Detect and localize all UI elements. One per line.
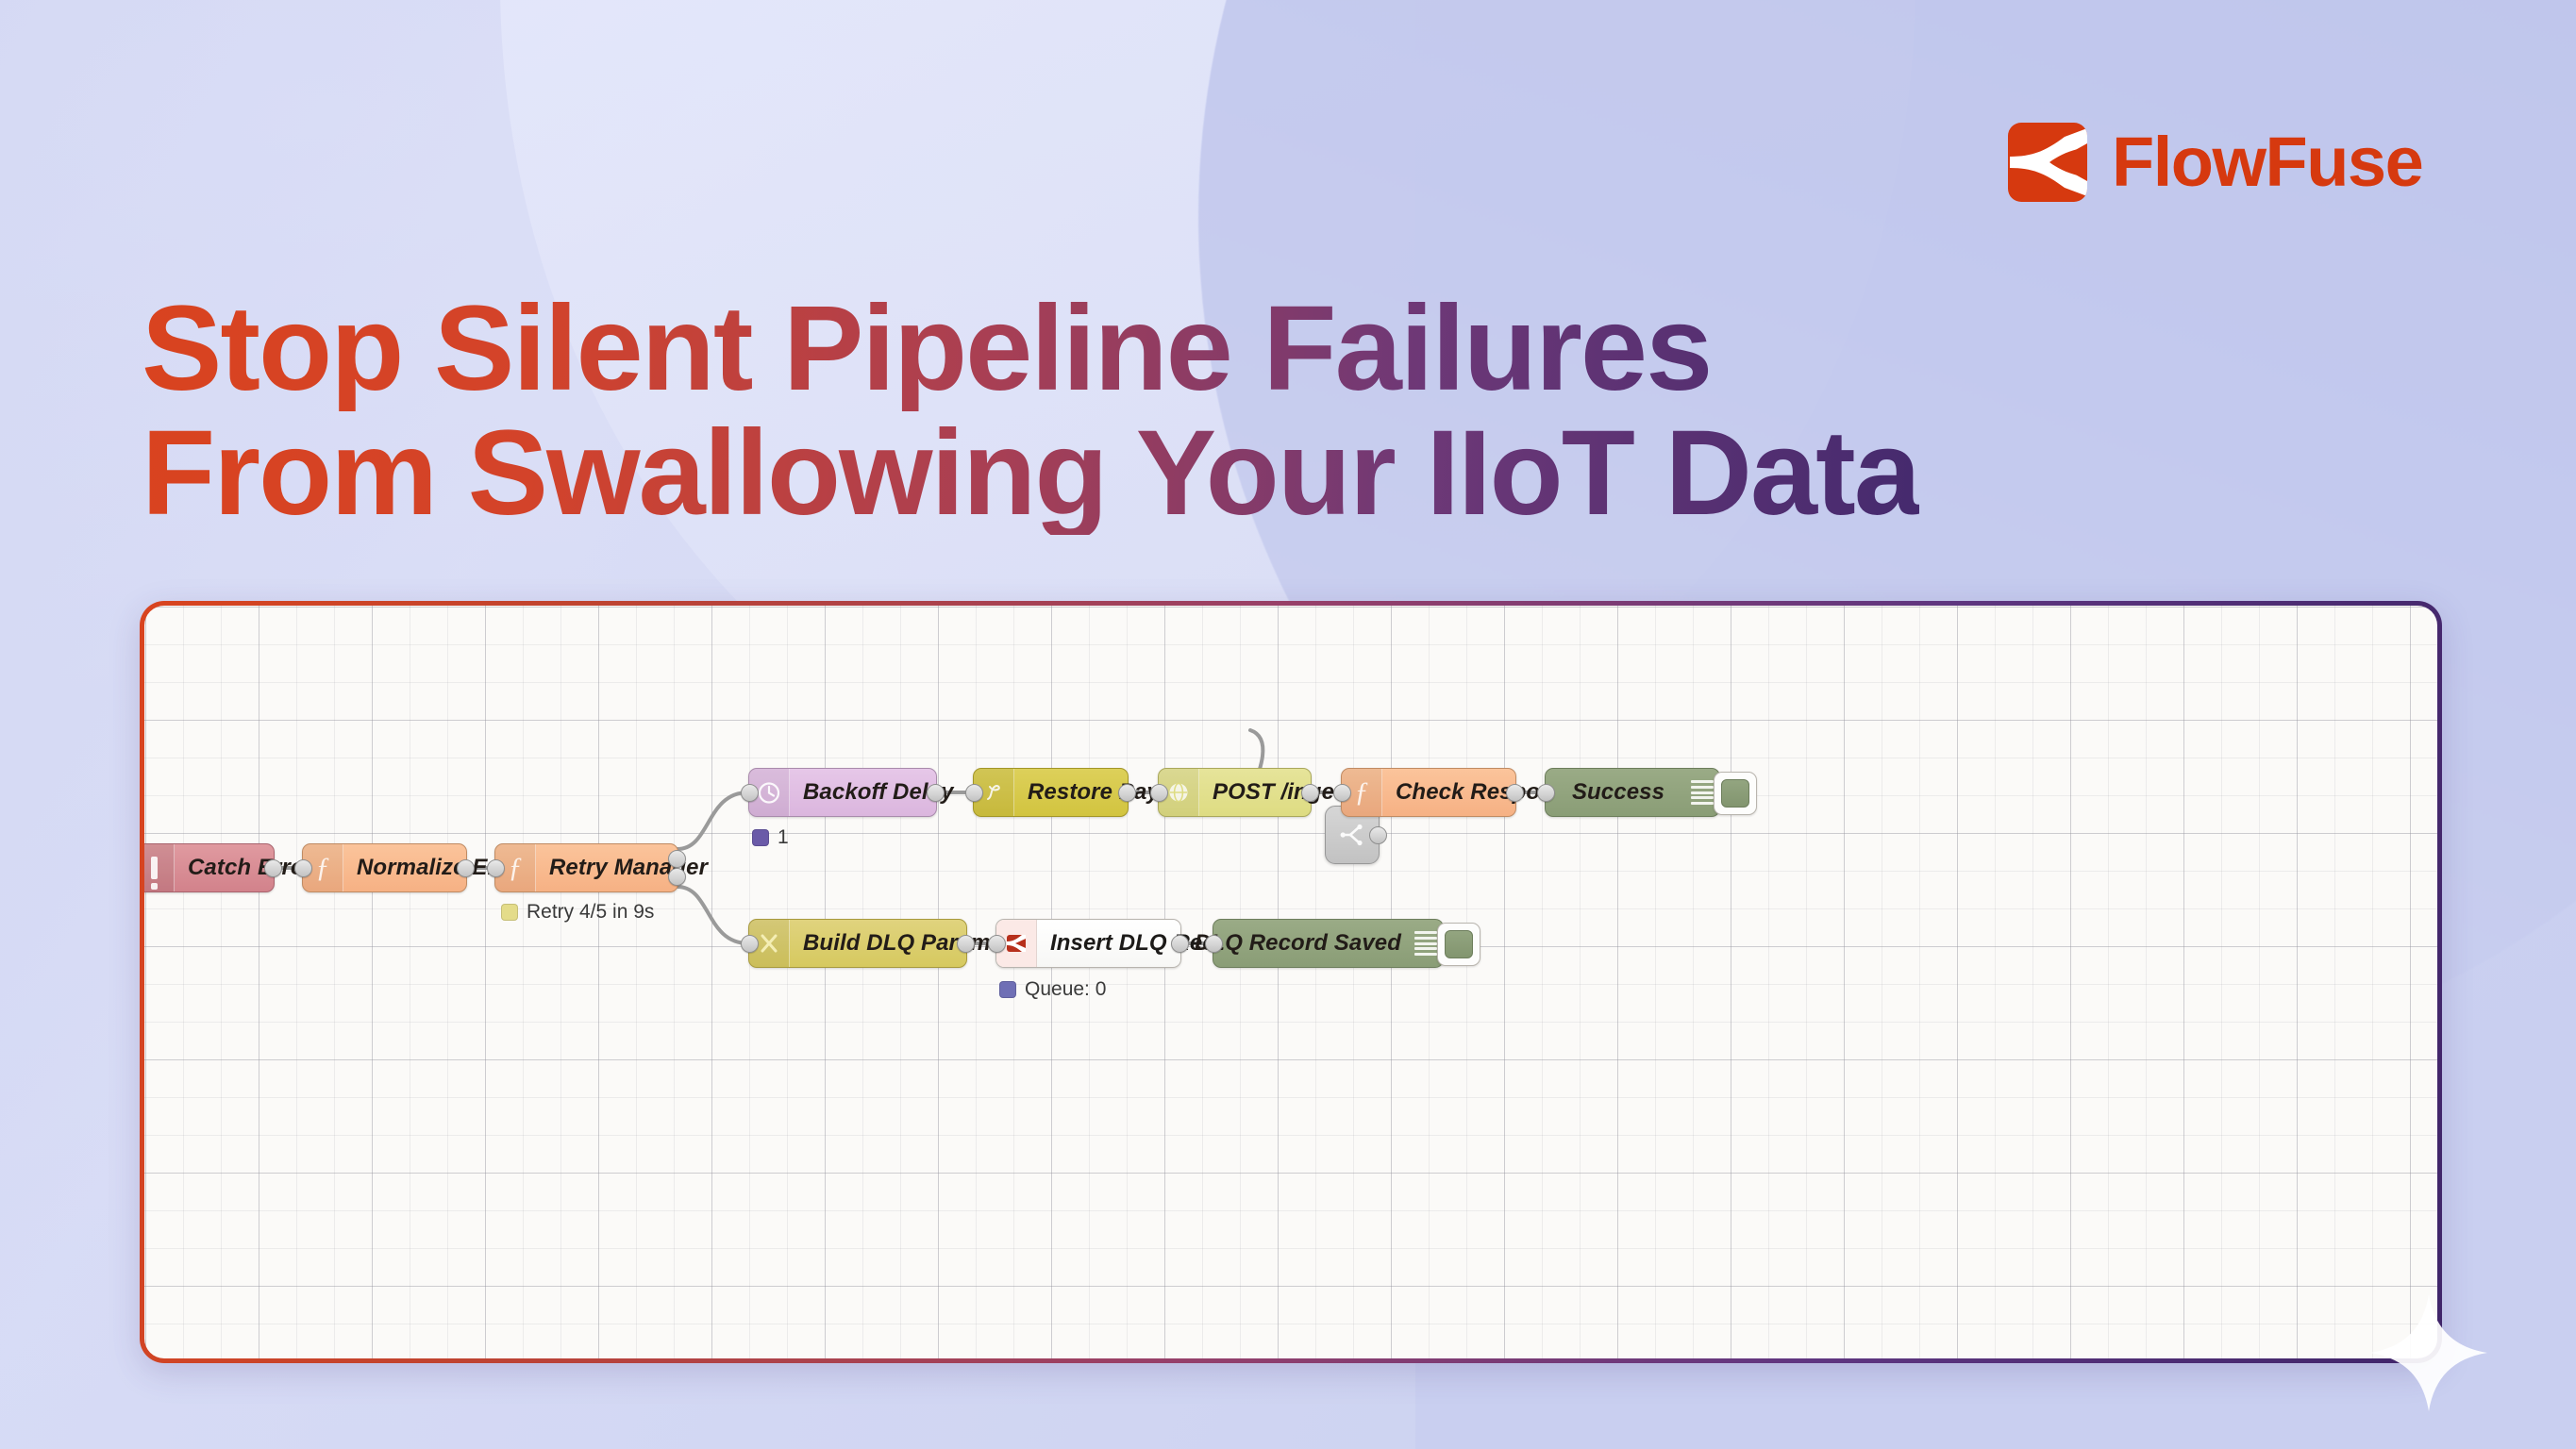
sparkle-icon — [2367, 1291, 2491, 1415]
node-input-port[interactable] — [1537, 784, 1555, 802]
node-input-port[interactable] — [741, 784, 759, 802]
debug-icon — [1414, 931, 1437, 956]
node-label: Build DLQ Params — [790, 930, 1016, 957]
debug-icon — [1691, 780, 1714, 805]
debug-toggle-button[interactable] — [1437, 923, 1480, 966]
node-normalize-error[interactable]: ƒ Normalize Error — [302, 843, 467, 892]
node-input-port[interactable] — [1150, 784, 1168, 802]
status-text: Queue: 0 — [1025, 978, 1106, 1001]
link-out-port[interactable] — [1369, 826, 1387, 844]
flow-wires — [144, 606, 2437, 1358]
node-output-port[interactable] — [1506, 784, 1524, 802]
node-output-port-2[interactable] — [668, 868, 686, 886]
retry-manager-status: Retry 4/5 in 9s — [501, 901, 654, 924]
node-input-port[interactable] — [1205, 935, 1223, 953]
node-output-port[interactable] — [1118, 784, 1136, 802]
page-title-line-2: From Swallowing Your IIoT Data — [142, 411, 1919, 536]
status-text: 1 — [778, 826, 789, 849]
insert-dlq-record-status: Queue: 0 — [999, 978, 1106, 1001]
node-output-port-1[interactable] — [668, 850, 686, 868]
node-input-port[interactable] — [965, 784, 983, 802]
flow-editor-frame: Catch Errors ƒ Normalize Error ƒ Retry M… — [140, 601, 2442, 1363]
alert-icon — [144, 844, 175, 891]
status-dot — [501, 904, 518, 921]
node-output-port[interactable] — [1301, 784, 1319, 802]
node-retry-manager[interactable]: ƒ Retry Manager — [494, 843, 678, 892]
node-output-port[interactable] — [264, 859, 282, 877]
page-title: Stop Silent Pipeline Failures From Swall… — [142, 287, 1919, 536]
node-output-port[interactable] — [927, 784, 945, 802]
node-input-port[interactable] — [741, 935, 759, 953]
status-dot — [999, 981, 1016, 998]
flowfuse-logo-icon — [2008, 123, 2087, 202]
status-text: Retry 4/5 in 9s — [527, 901, 654, 924]
node-dlq-record-saved[interactable]: DLQ Record Saved — [1213, 919, 1444, 968]
node-catch-errors[interactable]: Catch Errors — [144, 843, 275, 892]
status-dot — [752, 829, 769, 846]
flowfuse-logo: FlowFuse — [2008, 123, 2422, 202]
node-input-port[interactable] — [1333, 784, 1351, 802]
node-input-port[interactable] — [294, 859, 312, 877]
node-check-response[interactable]: ƒ Check Response — [1341, 768, 1516, 817]
node-input-port[interactable] — [487, 859, 505, 877]
node-success[interactable]: Success — [1545, 768, 1720, 817]
node-post-ingest[interactable]: POST /ingest — [1158, 768, 1312, 817]
node-label: Success — [1546, 779, 1691, 806]
node-label: Retry Manager — [536, 855, 721, 881]
backoff-delay-status: 1 — [752, 826, 789, 849]
node-insert-dlq-record[interactable]: Insert DLQ Record — [995, 919, 1181, 968]
node-output-port[interactable] — [457, 859, 475, 877]
debug-toggle-button[interactable] — [1714, 772, 1757, 815]
node-backoff-delay[interactable]: Backoff Delay — [748, 768, 937, 817]
flowfuse-wordmark: FlowFuse — [2112, 127, 2422, 197]
node-output-port[interactable] — [957, 935, 975, 953]
node-build-dlq-params[interactable]: Build DLQ Params — [748, 919, 967, 968]
node-input-port[interactable] — [988, 935, 1006, 953]
link-out-icon — [1338, 821, 1366, 849]
node-restore-payload[interactable]: Restore Payload — [973, 768, 1129, 817]
flow-editor-canvas[interactable]: Catch Errors ƒ Normalize Error ƒ Retry M… — [144, 606, 2437, 1358]
page-title-line-1: Stop Silent Pipeline Failures — [142, 287, 1919, 411]
